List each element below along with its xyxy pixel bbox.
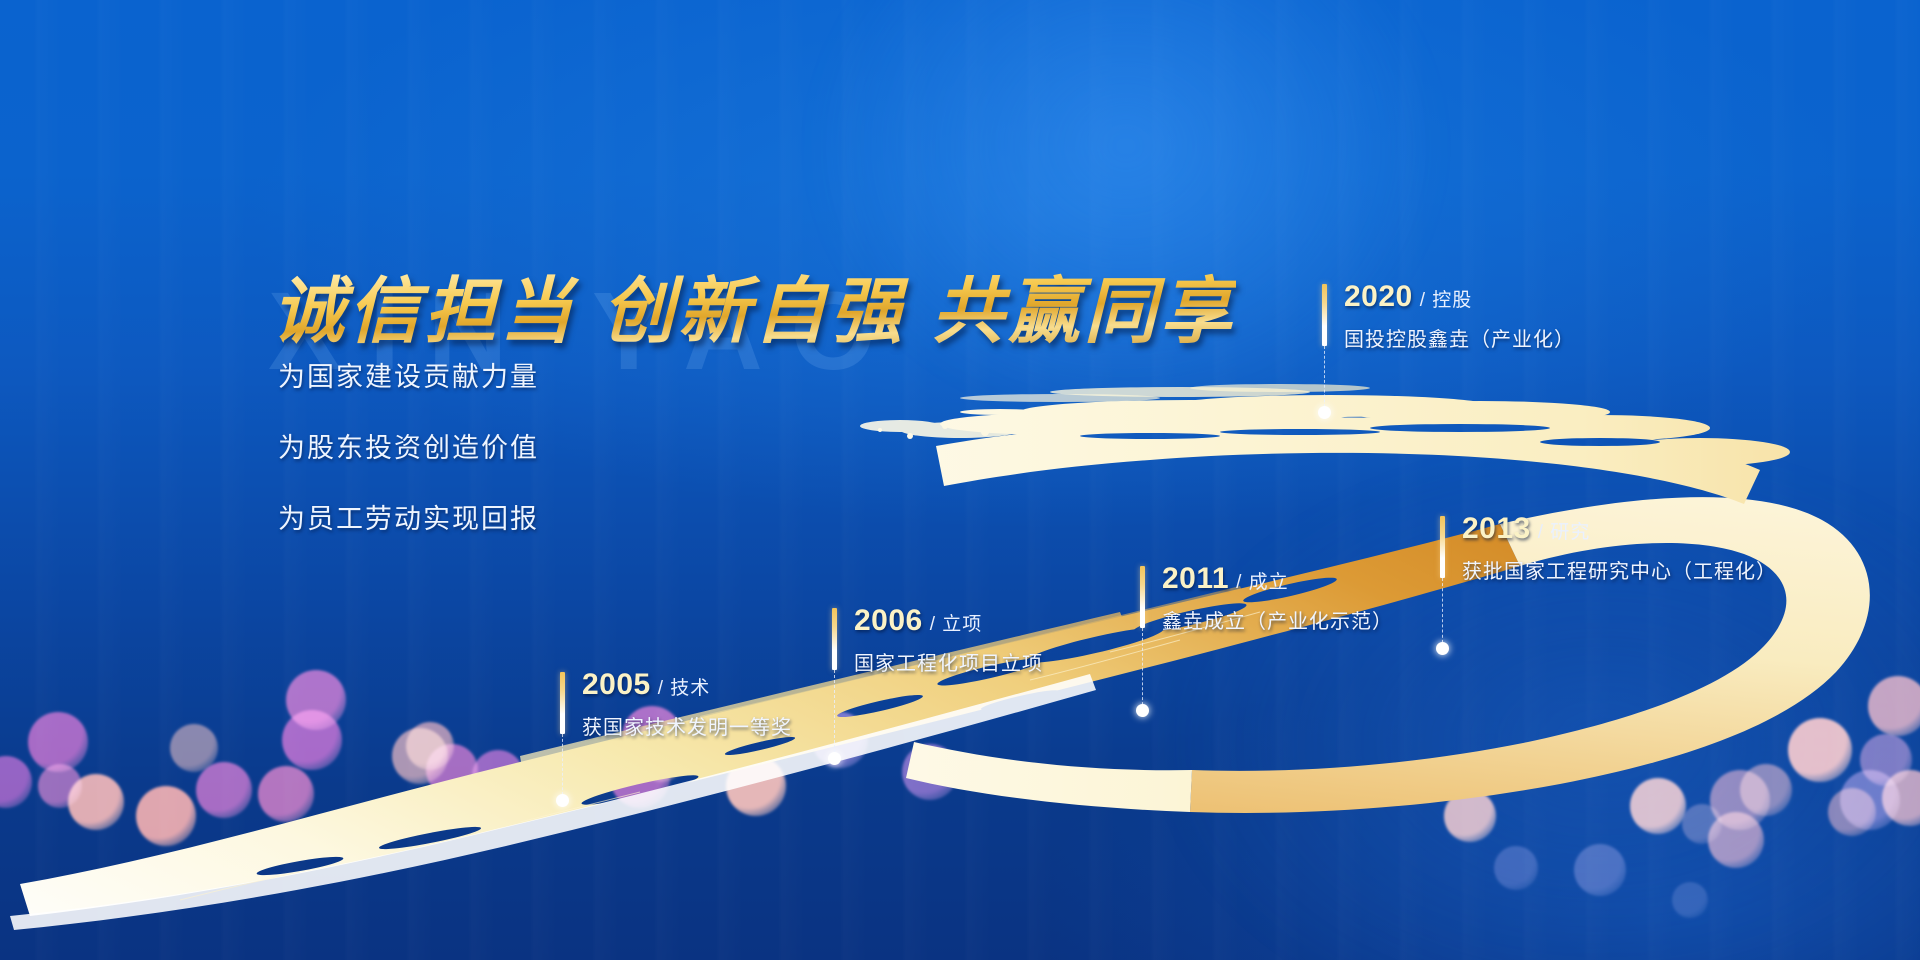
banner-canvas: XIN YAO 诚信担当创新自强共赢同享 为国家建设贡献力量 为股东投资创造价值…	[0, 0, 1920, 960]
bokeh-circle	[1868, 676, 1920, 736]
subtitle-line: 为员工劳动实现回报	[278, 497, 539, 536]
timeline-leader-line	[834, 670, 835, 758]
bokeh-circle	[28, 712, 88, 772]
bokeh-circle	[902, 744, 958, 800]
bokeh-circle	[392, 728, 448, 784]
bokeh-circle	[196, 762, 252, 818]
timeline-tag: 技术	[664, 678, 710, 699]
timeline-dot[interactable]	[556, 794, 569, 807]
timeline-year: 2011	[1162, 562, 1229, 595]
timeline-year: 2013	[1462, 512, 1531, 545]
bokeh-circle	[1672, 882, 1708, 918]
bokeh-circle	[286, 670, 346, 730]
bokeh-circle	[1494, 846, 1538, 890]
timeline-tag: 立项	[936, 614, 982, 635]
timeline-description: 获国家技术发明一等奖	[582, 711, 792, 740]
timeline-event-text: 2013/ 研究获批国家工程研究中心（工程化）	[1462, 512, 1777, 584]
timeline-event-heading: 2006/ 立项	[854, 604, 1043, 638]
bokeh-circle	[1860, 734, 1912, 786]
timeline-dot[interactable]	[828, 752, 841, 765]
title-part-3: 共赢同享	[932, 272, 1236, 352]
timeline-event-heading: 2020/ 控股	[1344, 280, 1575, 314]
timeline-event-text: 2006/ 立项国家工程化项目立项	[854, 604, 1043, 676]
timeline-tag: 控股	[1426, 290, 1472, 311]
bokeh-circle	[170, 724, 218, 772]
timeline-year: 2006	[854, 604, 923, 637]
bokeh-circle	[1828, 788, 1876, 836]
bokeh-circle	[726, 756, 786, 816]
timeline-accent-bar	[1322, 284, 1327, 346]
timeline-leader-line	[1142, 628, 1143, 710]
timeline-leader-line	[1324, 346, 1325, 412]
timeline-accent-bar	[560, 672, 565, 734]
timeline-year: 2020	[1344, 280, 1413, 313]
bokeh-circle	[1840, 770, 1900, 830]
timeline-year: 2005	[582, 668, 651, 701]
timeline-tag: 成立	[1242, 572, 1288, 593]
timeline-description: 国投控股鑫垚（产业化）	[1344, 323, 1575, 352]
timeline-event-text: 2005/ 技术获国家技术发明一等奖	[582, 668, 792, 740]
bokeh-circle	[1882, 770, 1920, 826]
bokeh-circle	[1708, 812, 1764, 868]
bokeh-circle	[38, 764, 82, 808]
timeline-leader-line	[1442, 578, 1443, 648]
timeline-leader-line	[562, 734, 563, 800]
bokeh-circle	[68, 774, 124, 830]
page-title: 诚信担当创新自强共赢同享	[272, 252, 1236, 357]
bokeh-circle	[1710, 770, 1770, 830]
bokeh-circle	[1574, 844, 1626, 896]
subtitle-list: 为国家建设贡献力量 为股东投资创造价值 为员工劳动实现回报	[278, 355, 539, 568]
timeline-tag: 研究	[1544, 522, 1590, 543]
bokeh-circle	[136, 786, 196, 846]
timeline-event-text: 2011/ 成立鑫垚成立（产业化示范）	[1162, 562, 1393, 634]
subtitle-line: 为股东投资创造价值	[278, 426, 539, 465]
bokeh-circle	[1788, 718, 1852, 782]
timeline-event-text: 2020/ 控股国投控股鑫垚（产业化）	[1344, 280, 1575, 352]
timeline-event-heading: 2011/ 成立	[1162, 562, 1393, 596]
timeline-description: 国家工程化项目立项	[854, 647, 1043, 676]
bokeh-circle	[426, 744, 478, 796]
timeline-description: 鑫垚成立（产业化示范）	[1162, 605, 1393, 634]
bokeh-circle	[1444, 790, 1496, 842]
bokeh-circle	[1630, 778, 1686, 834]
bokeh-circle	[282, 710, 342, 770]
bokeh-circle	[258, 766, 314, 822]
bokeh-circle	[610, 748, 670, 808]
bokeh-circle	[640, 738, 684, 782]
bokeh-circle	[472, 750, 524, 802]
timeline-event-heading: 2013/ 研究	[1462, 512, 1777, 546]
timeline-accent-bar	[1440, 516, 1445, 578]
timeline-accent-bar	[1140, 566, 1145, 628]
title-part-1: 诚信担当	[272, 272, 576, 352]
bokeh-circle	[1740, 764, 1792, 816]
timeline-description: 获批国家工程研究中心（工程化）	[1462, 555, 1777, 584]
subtitle-line: 为国家建设贡献力量	[278, 355, 539, 394]
bokeh-circle	[1682, 804, 1722, 844]
timeline-dot[interactable]	[1436, 642, 1449, 655]
bokeh-circle	[0, 756, 32, 808]
title-part-2: 创新自强	[602, 272, 906, 352]
background-glow-top	[806, 0, 1446, 426]
bokeh-circle	[406, 722, 454, 770]
timeline-dot[interactable]	[1136, 704, 1149, 717]
timeline-event-heading: 2005/ 技术	[582, 668, 792, 702]
timeline-accent-bar	[832, 608, 837, 670]
timeline-dot[interactable]	[1318, 406, 1331, 419]
